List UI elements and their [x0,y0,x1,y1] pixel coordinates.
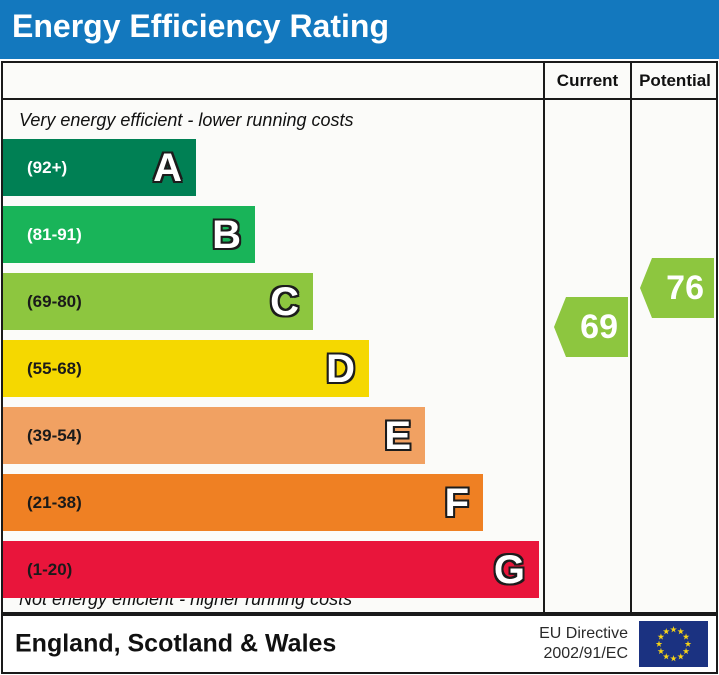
band-letter-f: F [445,483,469,523]
eu-star-icon [670,626,677,633]
band-range-c: (69-80) [27,292,82,312]
eu-star-icon [657,633,664,640]
footer-bar: England, Scotland & Wales EU Directive 2… [1,614,718,674]
page-title: Energy Efficiency Rating [12,8,389,45]
footer-directive: EU Directive 2002/91/EC [539,624,628,664]
eu-star-icon [683,633,690,640]
band-range-b: (81-91) [27,225,82,245]
band-bar-g: (1-20)G [3,541,539,598]
eu-star-icon [677,653,684,660]
band-letter-d: D [326,349,355,389]
potential-rating-value: 76 [666,269,704,308]
band-letter-g: G [494,550,525,590]
eu-star-icon [663,653,670,660]
energy-efficiency-rating-chart: Energy Efficiency Rating Current Potenti… [0,0,719,675]
footer-directive-line2: 2002/91/EC [539,644,628,664]
band-range-d: (55-68) [27,359,82,379]
eu-star-icon [656,641,663,648]
band-letter-a: A [153,148,182,188]
band-bar-e: (39-54)E [3,407,425,464]
column-header-current: Current [543,63,630,98]
band-letter-e: E [384,416,411,456]
band-range-a: (92+) [27,158,67,178]
band-bar-d: (55-68)D [3,340,369,397]
eu-star-icon [670,655,677,662]
column-divider-current [543,100,545,612]
band-bars: (92+)A(81-91)B(69-80)C(55-68)D(39-54)E(2… [3,63,543,612]
eu-star-icon [685,641,692,648]
band-range-e: (39-54) [27,426,82,446]
band-letter-b: B [212,215,241,255]
band-range-f: (21-38) [27,493,82,513]
footer-region-label: England, Scotland & Wales [15,630,336,659]
eu-star-icon [683,648,690,655]
eu-star-icon [677,628,684,635]
column-header-potential: Potential [630,63,718,98]
band-bar-b: (81-91)B [3,206,255,263]
band-letter-c: C [270,282,299,322]
eu-star-icon [657,648,664,655]
title-bar: Energy Efficiency Rating [0,0,719,59]
footer-directive-line1: EU Directive [539,624,628,644]
chart-frame: Current Potential Very energy efficient … [1,61,718,614]
eu-flag-icon [639,621,708,667]
band-range-g: (1-20) [27,560,72,580]
band-bar-a: (92+)A [3,139,196,196]
column-divider-potential [630,100,632,612]
potential-rating-marker: 76 [640,258,714,318]
band-bar-f: (21-38)F [3,474,483,531]
current-rating-value: 69 [580,308,618,347]
eu-star-icon [663,628,670,635]
band-bar-c: (69-80)C [3,273,313,330]
current-rating-marker: 69 [554,297,628,357]
